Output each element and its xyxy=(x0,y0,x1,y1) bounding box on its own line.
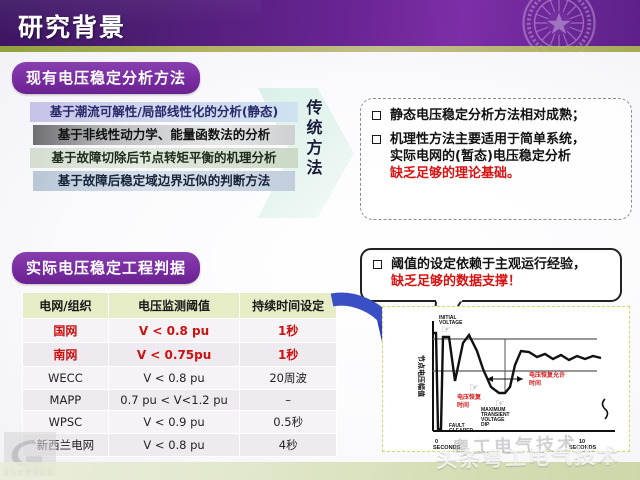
bullet-item: 静态电压稳定分析方法相对成熟； xyxy=(369,107,623,124)
traditional-methods-label: 传 统 方 法 xyxy=(303,98,327,178)
bullet-line-emphasis: 缺乏足够的理论基础。 xyxy=(390,165,585,182)
bullet-line: 实际电网的(暂态)电压稳定分析 xyxy=(390,148,585,165)
svg-text:☞: ☞ xyxy=(495,397,505,410)
svg-text:DIP: DIP xyxy=(481,422,490,428)
table-header-row: 电网/组织 电压监测阈值 持续时间设定 xyxy=(23,293,337,319)
bullet-line: 阈值的设定依赖于主观运行经验， xyxy=(391,256,586,273)
table-row: WECC V < 0.8 pu 20周波 xyxy=(23,367,337,390)
table-cell: V < 0.75pu xyxy=(108,343,240,367)
section-badge-criteria: 实际电压稳定工程判据 xyxy=(12,252,200,284)
square-bullet-icon xyxy=(372,111,381,120)
bullet-item: 阈值的设定依赖于主观运行经验， 缺乏足够的数据支撑！ xyxy=(370,256,612,290)
transient-voltage-chart: INITIAL VOLTAGE FAULT CLEARED MAXIMUM TR… xyxy=(382,306,630,452)
section-badge-methods: 现有电压稳定分析方法 xyxy=(12,62,200,94)
table-row: WPSC V < 0.9 pu 0.5秒 xyxy=(23,411,337,434)
table-cell: 1秒 xyxy=(240,319,337,343)
slide-root: 研究背景 现有电压稳定分析方法 实际电压稳定工程判据 传 统 方 法 基于潮流可… xyxy=(0,0,640,480)
chart-annotation-recovery-window: 电压恢复允许 xyxy=(529,371,565,379)
method-row: 基于故障切除后节点转矩平衡的机理分析 xyxy=(30,148,298,168)
slide-header: 研究背景 xyxy=(0,0,640,52)
square-bullet-icon xyxy=(373,260,382,269)
table-cell: 国网 xyxy=(23,319,109,343)
bullet-line: 机理性方法主要适用于简单系统， xyxy=(390,131,585,148)
trad-char-3: 法 xyxy=(303,158,327,178)
table-cell: V < 0.8 pu xyxy=(108,367,240,390)
chart-y-axis-label: 节点电压幅值 xyxy=(417,355,426,397)
bullet-item: 机理性方法主要适用于简单系统， 实际电网的(暂态)电压稳定分析 缺乏足够的理论基… xyxy=(369,131,623,182)
table-cell: WPSC xyxy=(23,411,109,434)
svg-text:☞: ☞ xyxy=(441,323,451,336)
table-cell: WECC xyxy=(23,367,109,390)
chart-annotation-recovery-time: 电压恢复 xyxy=(457,393,482,401)
table-cell: 1秒 xyxy=(240,343,337,367)
bullet-text: 静态电压稳定分析方法相对成熟； xyxy=(390,107,585,124)
bullet-line: 静态电压稳定分析方法相对成熟； xyxy=(390,107,585,124)
table-row: 新西兰电网 V < 0.8 pu 4秒 xyxy=(23,434,337,457)
method-row: 基于故障后稳定域边界近似的判断方法 xyxy=(33,171,295,191)
table-cell: 0.7 pu < V<1.2 pu xyxy=(108,390,240,411)
header-underline xyxy=(0,46,640,52)
table-cell: – xyxy=(240,390,337,411)
table-cell: V < 0.8 pu xyxy=(108,319,240,343)
table-cell: 0.5秒 xyxy=(240,411,337,434)
table-header-cell: 电压监测阈值 xyxy=(108,293,240,319)
svg-text:时间: 时间 xyxy=(457,401,469,409)
square-bullet-icon xyxy=(372,135,381,144)
table-row: 国网 V < 0.8 pu 1秒 xyxy=(23,319,337,343)
bullet-text: 机理性方法主要适用于简单系统， 实际电网的(暂态)电压稳定分析 缺乏足够的理论基… xyxy=(390,131,585,182)
table-cell: V < 0.8 pu xyxy=(108,434,240,457)
chart-svg: INITIAL VOLTAGE FAULT CLEARED MAXIMUM TR… xyxy=(383,307,630,452)
method-row: 基于潮流可解性/局部线性化的分析(静态) xyxy=(30,102,298,122)
trad-char-1: 统 xyxy=(303,118,327,138)
watermark-primary: 头条粤工电气技术 xyxy=(436,440,621,475)
table-cell: V < 0.9 pu xyxy=(108,411,240,434)
tsinghua-emblem-icon xyxy=(522,0,596,52)
svg-text:☞: ☞ xyxy=(469,381,479,394)
table-header-cell: 电网/组织 xyxy=(23,293,109,319)
voltage-criteria-table: 电网/组织 电压监测阈值 持续时间设定 国网 V < 0.8 pu 1秒 南网 … xyxy=(22,292,337,457)
page-title: 研究背景 xyxy=(18,8,126,44)
callout-existing-methods: 静态电压稳定分析方法相对成熟； 机理性方法主要适用于简单系统， 实际电网的(暂态… xyxy=(360,98,632,220)
table-row: 南网 V < 0.75pu 1秒 xyxy=(23,343,337,367)
table-cell: 南网 xyxy=(23,343,109,367)
table-cell: 20周波 xyxy=(240,367,337,390)
table-cell: 4秒 xyxy=(240,434,337,457)
trad-char-2: 方 xyxy=(303,138,327,158)
trad-char-0: 传 xyxy=(303,98,327,118)
bullet-text: 阈值的设定依赖于主观运行经验， 缺乏足够的数据支撑！ xyxy=(391,256,586,290)
table-row: MAPP 0.7 pu < V<1.2 pu – xyxy=(23,390,337,411)
svg-text:时间: 时间 xyxy=(529,379,541,387)
table-header-cell: 持续时间设定 xyxy=(240,293,337,319)
method-row: 基于非线性动力学、能量函数法的分析 xyxy=(33,125,295,145)
bullet-line-emphasis: 缺乏足够的数据支撑！ xyxy=(391,273,586,290)
table-cell: MAPP xyxy=(23,390,109,411)
